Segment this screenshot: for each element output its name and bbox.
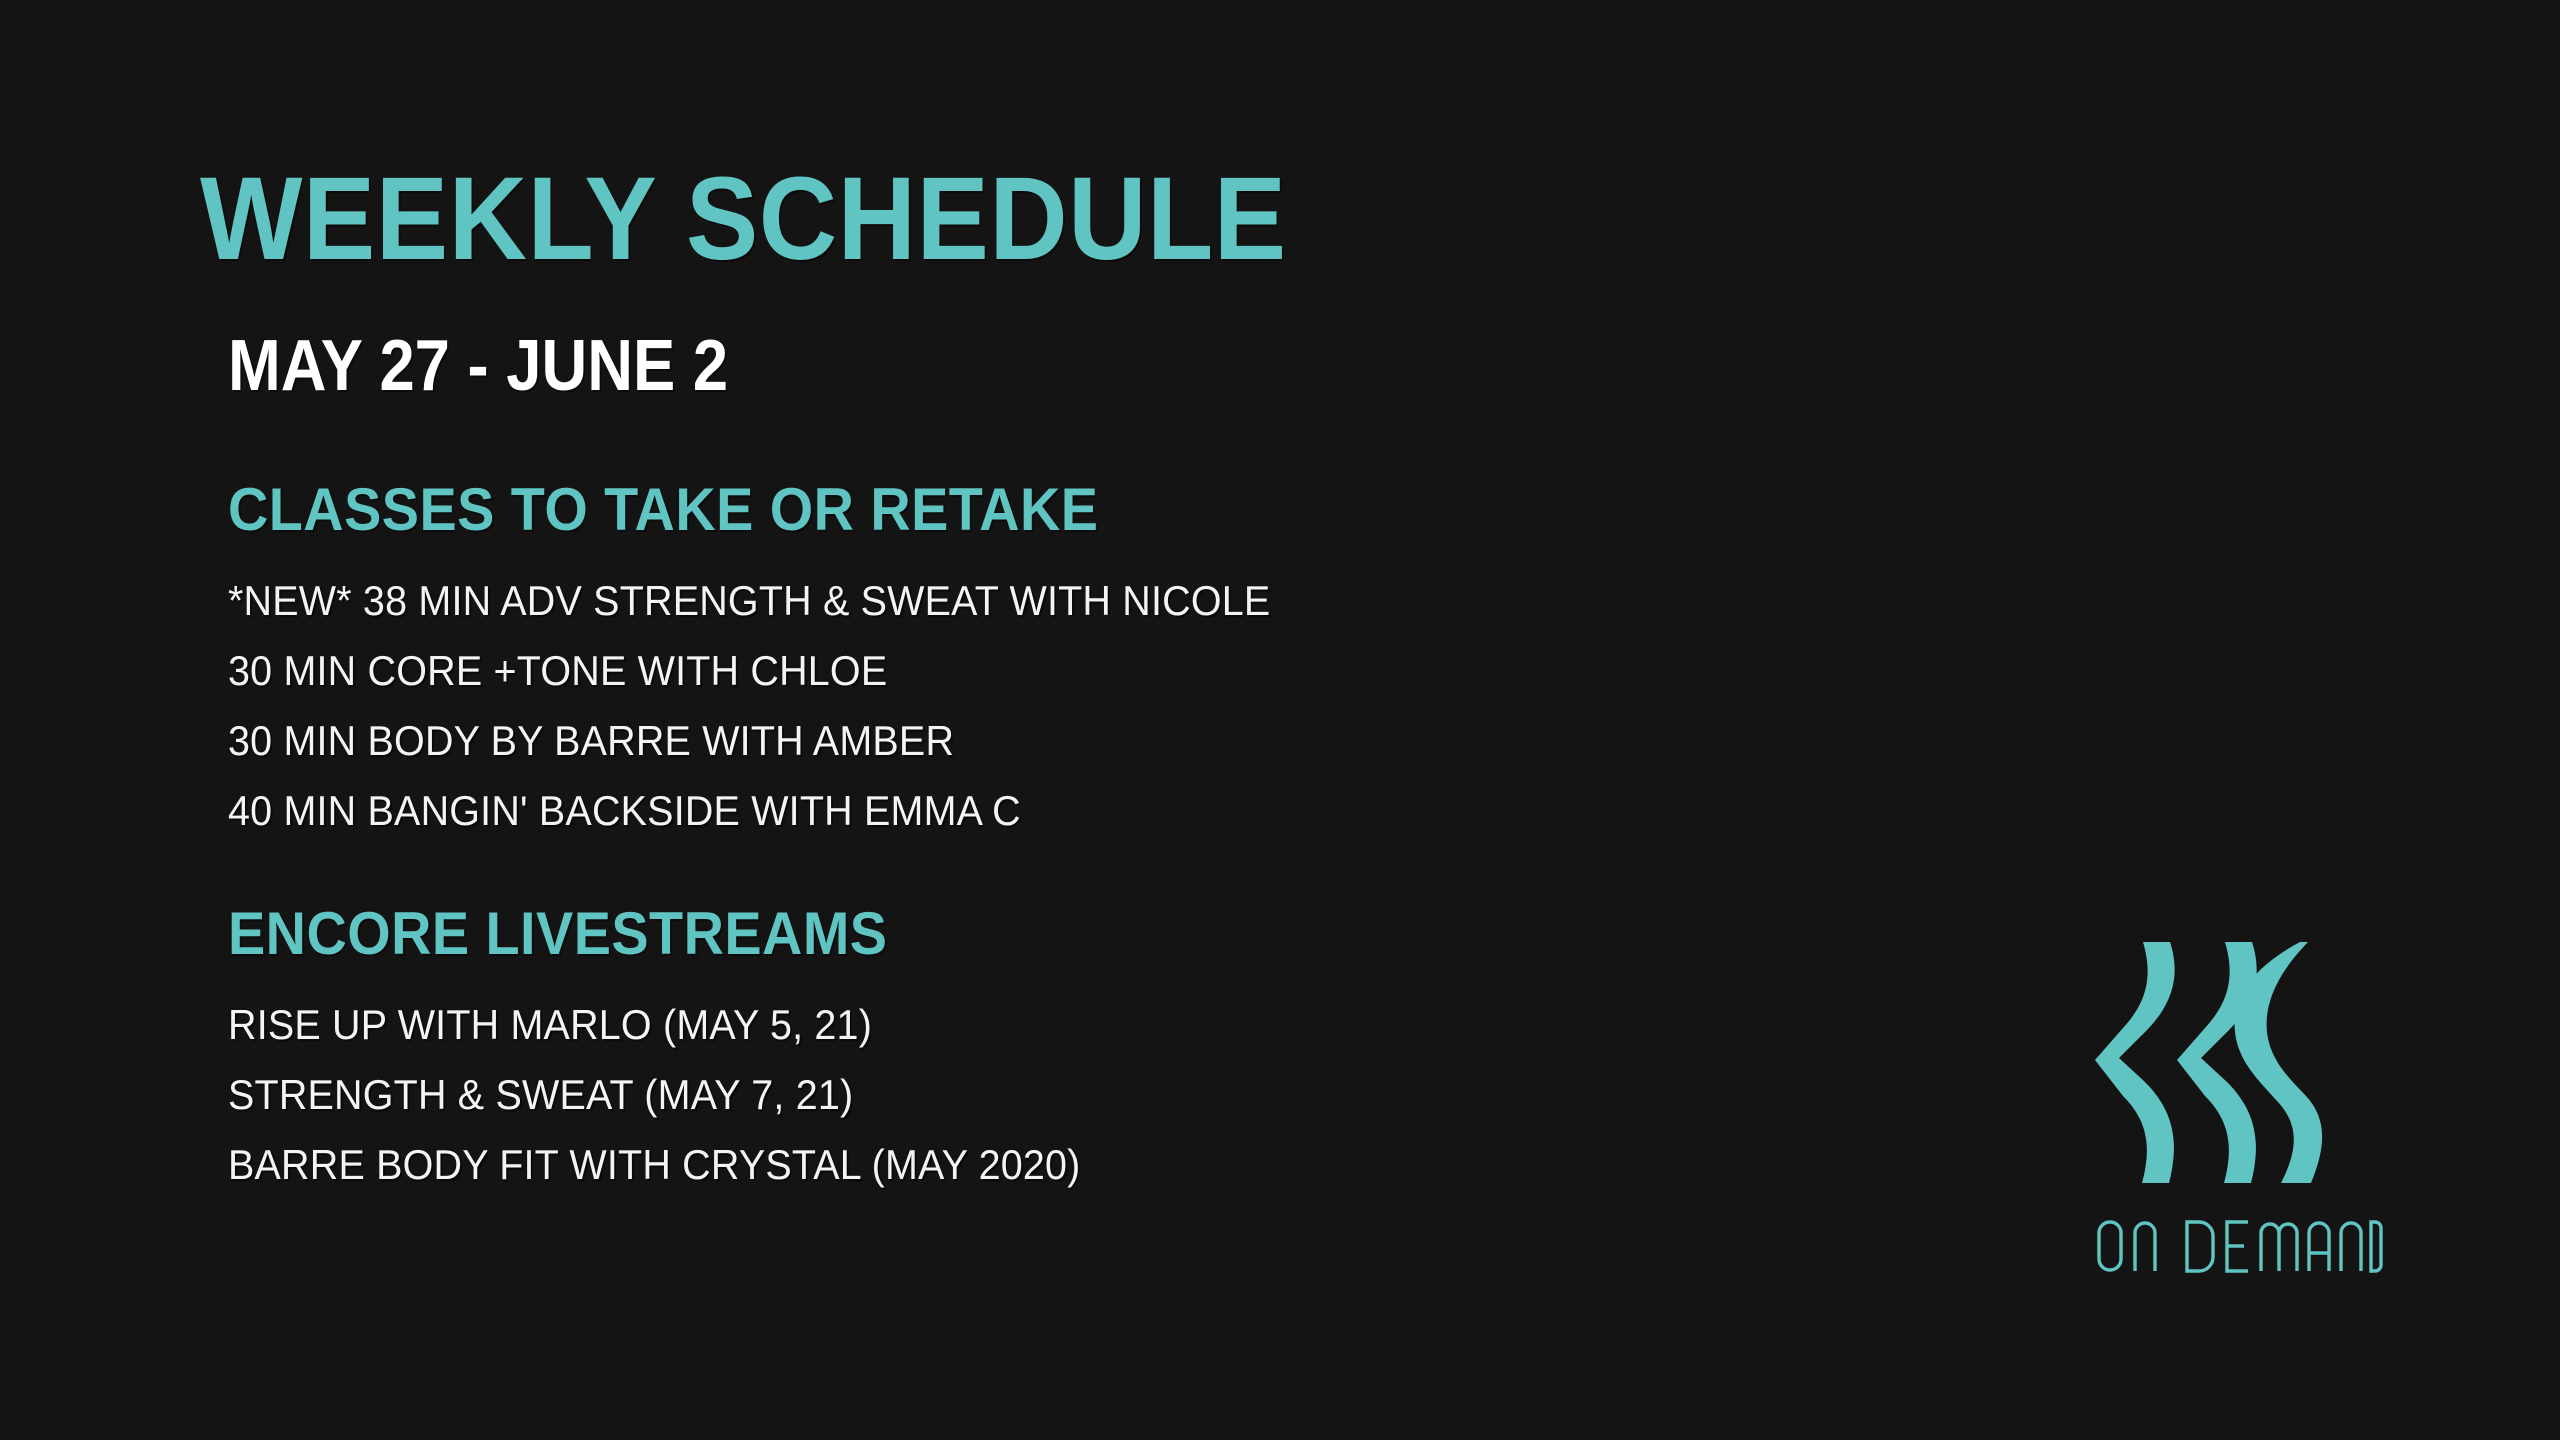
logo-wordmark (2093, 1215, 2383, 1277)
list-item: BARRE BODY FIT WITH CRYSTAL (MAY 2020) (228, 1130, 1826, 1200)
list-item: 30 MIN BODY BY BARRE WITH AMBER (228, 706, 1826, 776)
section-encore-livestreams: ENCORE LIVESTREAMS RISE UP WITH MARLO (M… (228, 904, 1928, 1200)
brand-logo (2095, 940, 2395, 1277)
section-classes-to-take-or-retake: CLASSES TO TAKE OR RETAKE *NEW* 38 MIN A… (228, 480, 1928, 846)
list-item: STRENGTH & SWEAT (MAY 7, 21) (228, 1060, 1826, 1130)
schedule-slide: WEEKLY SCHEDULE MAY 27 - JUNE 2 CLASSES … (0, 0, 2560, 1440)
schedule-sections: CLASSES TO TAKE OR RETAKE *NEW* 38 MIN A… (228, 480, 1928, 1200)
title-block: WEEKLY SCHEDULE MAY 27 - JUNE 2 (200, 160, 1381, 402)
date-range-label: MAY 27 - JUNE 2 (228, 330, 1243, 402)
page-title: WEEKLY SCHEDULE (200, 160, 1287, 278)
three-wave-logo-icon (2095, 940, 2345, 1185)
list-item: RISE UP WITH MARLO (MAY 5, 21) (228, 990, 1826, 1060)
list-item: 30 MIN CORE +TONE WITH CHLOE (228, 636, 1826, 706)
class-list: *NEW* 38 MIN ADV STRENGTH & SWEAT WITH N… (228, 566, 1928, 846)
section-heading: CLASSES TO TAKE OR RETAKE (228, 480, 1809, 540)
encore-list: RISE UP WITH MARLO (MAY 5, 21) STRENGTH … (228, 990, 1928, 1200)
list-item: *NEW* 38 MIN ADV STRENGTH & SWEAT WITH N… (228, 566, 1826, 636)
list-item: 40 MIN BANGIN' BACKSIDE WITH EMMA C (228, 776, 1826, 846)
section-heading: ENCORE LIVESTREAMS (228, 904, 1809, 964)
